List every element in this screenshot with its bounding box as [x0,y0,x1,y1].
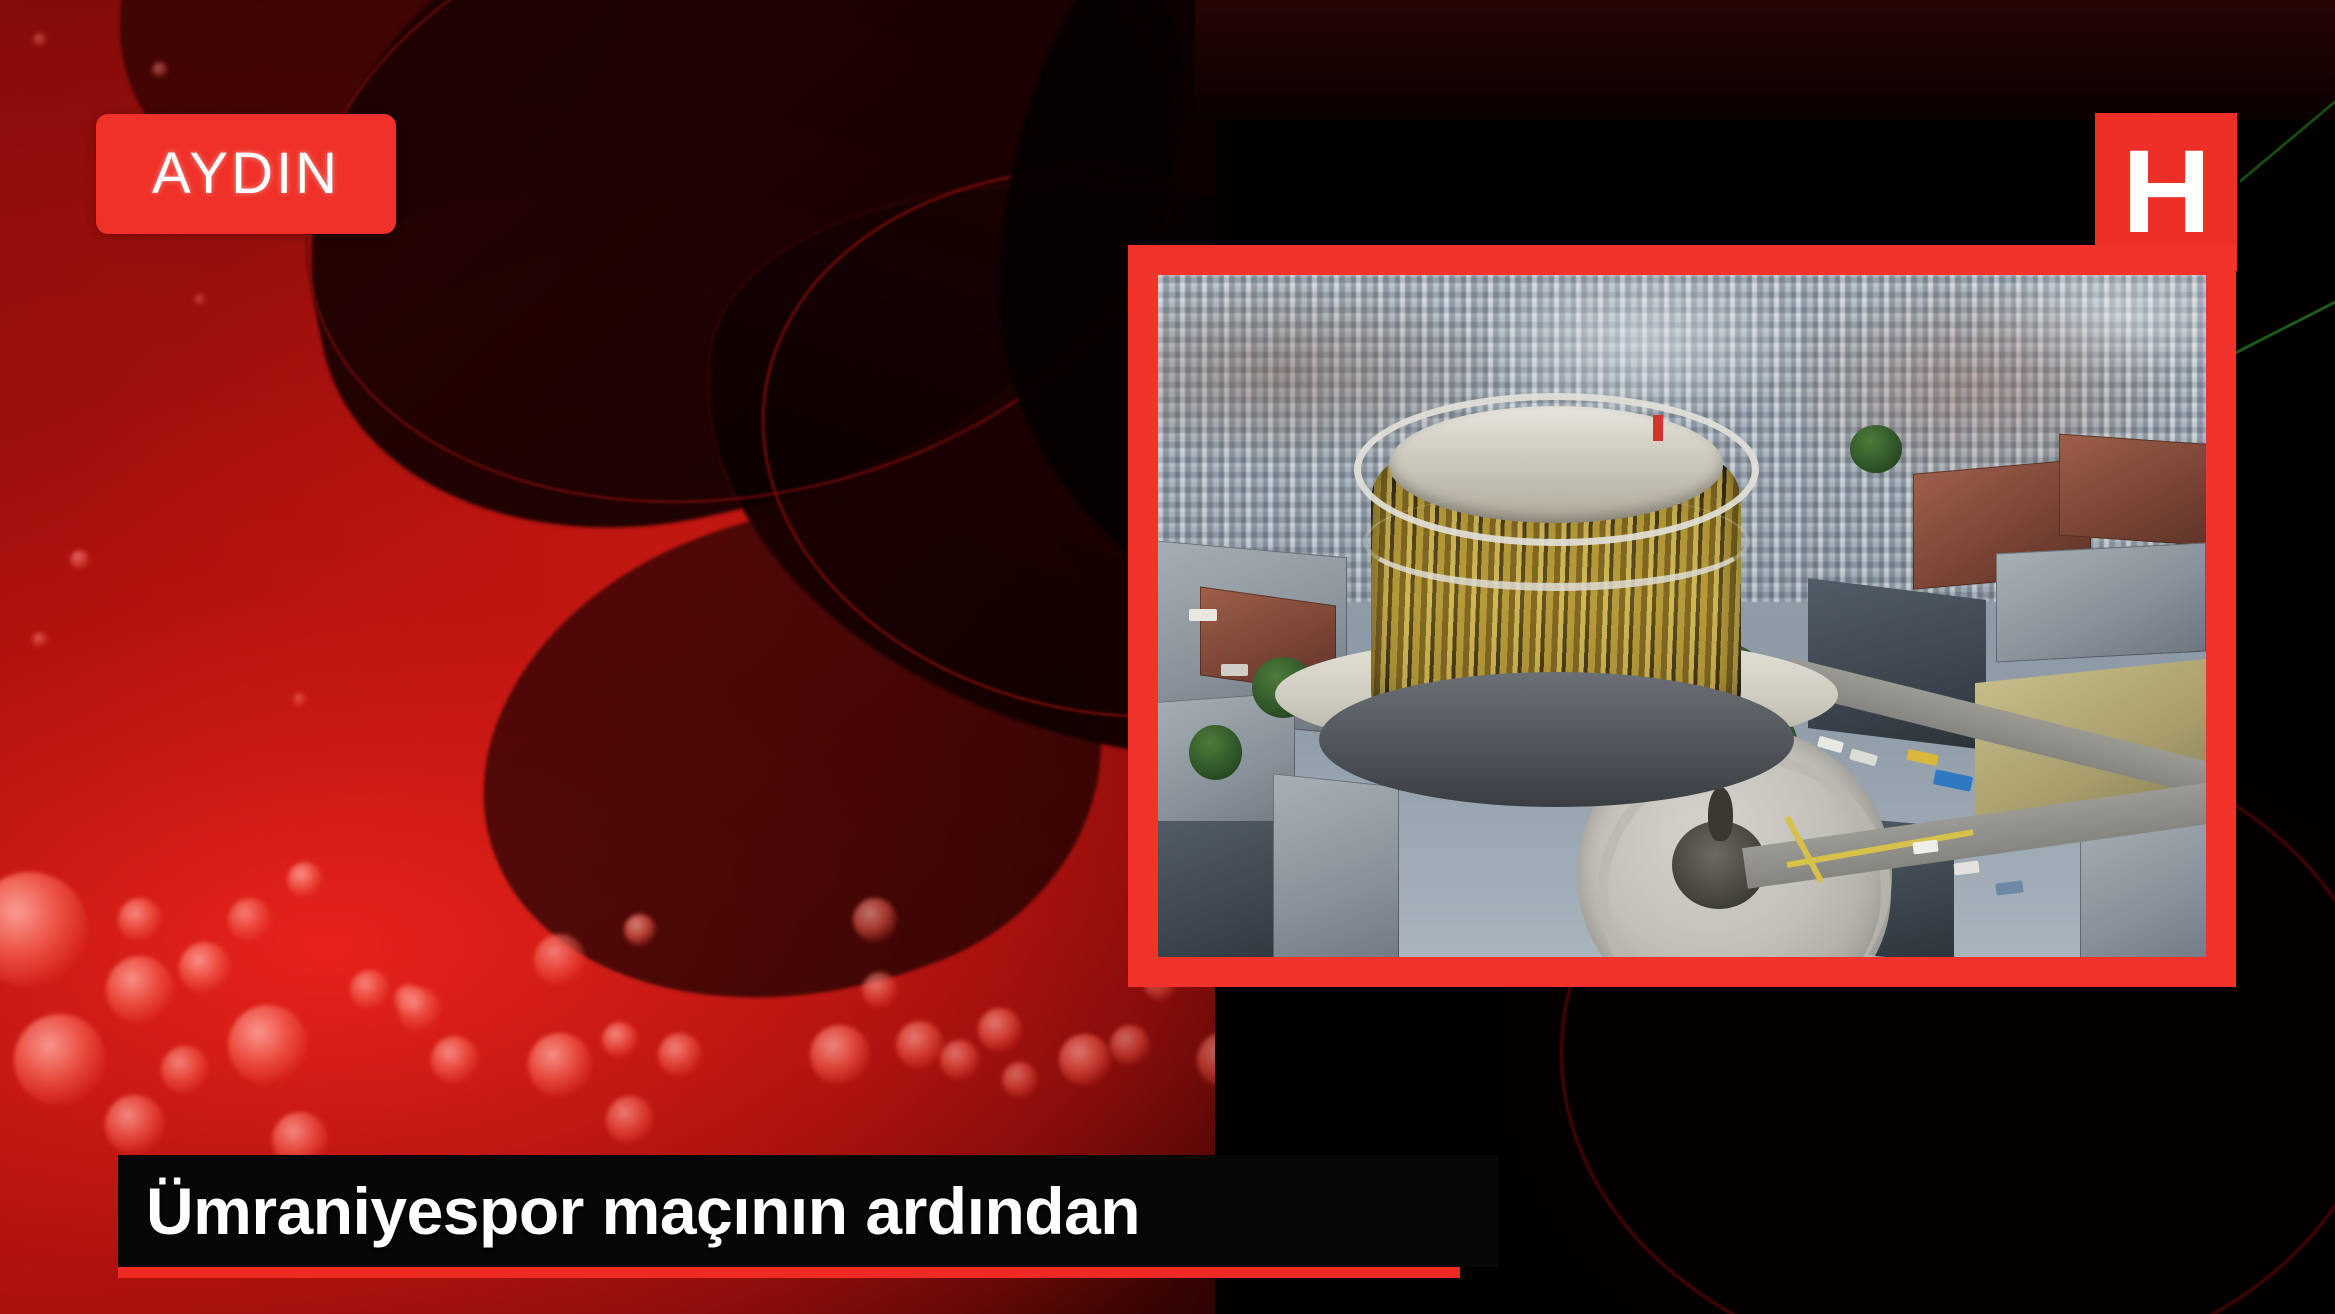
black-panel-top [1195,0,2335,120]
headline-bar: Ümraniyespor maçının ardından [118,1155,1498,1267]
photo-car [1189,609,1216,621]
photo-building-block [2059,433,2206,546]
logo-letter: H [2122,133,2209,251]
city-badge: AYDIN [96,114,396,234]
photo-car [1221,664,1248,676]
photo-gold-building [1336,357,1776,807]
headline-accent-rule [118,1267,1460,1278]
photo-tree [1850,425,1902,473]
photo-building-block [1996,542,2206,662]
photo-car [1954,860,1980,875]
photo-gold-flag [1653,415,1663,441]
news-graphic-card: AYDIN H [0,0,2335,1314]
city-badge-label: AYDIN [152,145,340,203]
photo-gold-base [1319,672,1794,807]
photo-tree [1189,725,1241,780]
photo-frame [1128,245,2236,987]
headline-text: Ümraniyespor maçının ardından [118,1178,1140,1244]
photo-aerial-city [1158,275,2206,957]
photo-gold-band [1363,492,1750,591]
